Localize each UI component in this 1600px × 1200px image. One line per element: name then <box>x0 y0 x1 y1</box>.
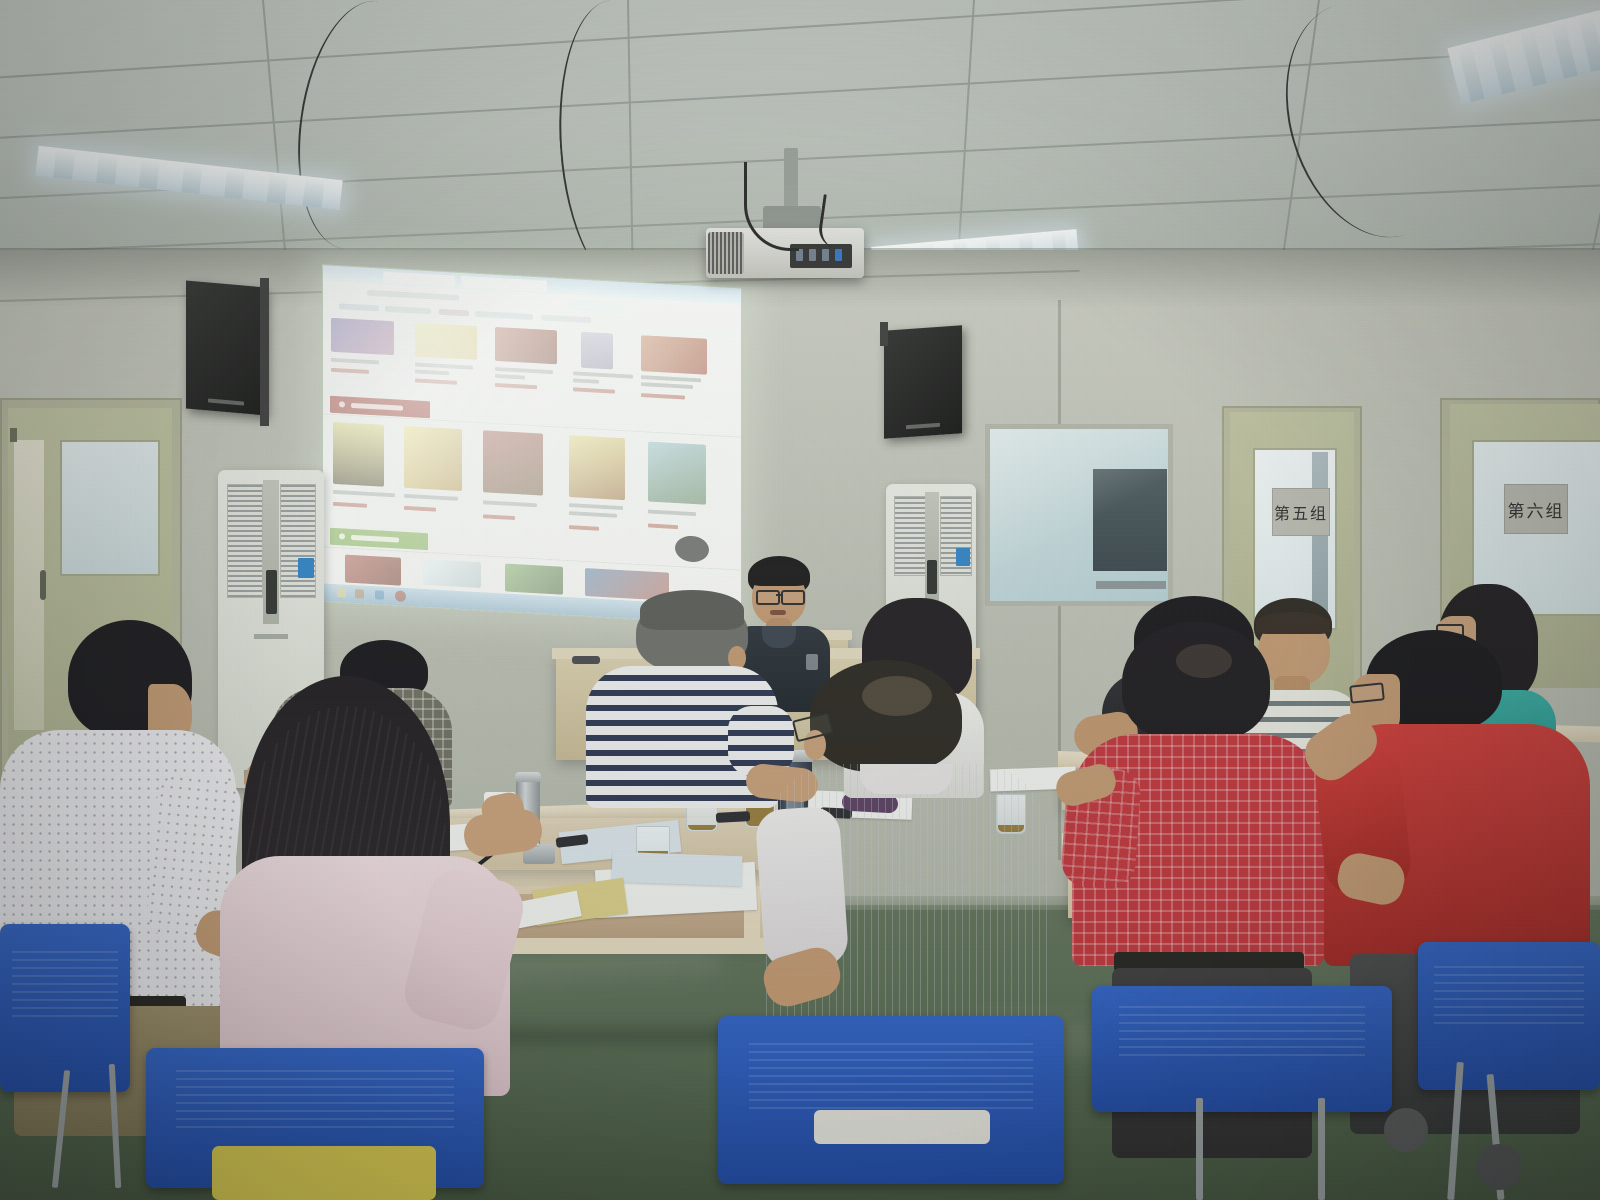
attendee-hair <box>1122 622 1270 742</box>
ac-brand-label <box>254 634 288 639</box>
chair-wheel <box>1476 1144 1522 1190</box>
blue-chair-center[interactable] <box>718 1016 1064 1184</box>
projection-screen <box>322 264 742 625</box>
thermos-cap <box>515 772 541 782</box>
presenter-glasses-bridge <box>776 594 782 596</box>
speaker-badge <box>208 398 243 405</box>
presenter-hair-front <box>750 564 808 586</box>
ac-energy-label <box>956 548 970 566</box>
presenter-glasses <box>781 590 805 605</box>
chair-leg <box>1196 1098 1203 1200</box>
attendee-hair-top <box>640 590 744 630</box>
ac-vent-left <box>227 484 263 598</box>
blue-chair-right-b[interactable] <box>1418 942 1600 1090</box>
door-sign-group-five: 第五组 <box>1272 488 1330 536</box>
attendee-glasses <box>1349 682 1385 703</box>
paper-document <box>612 852 743 887</box>
window-glare <box>990 429 1168 601</box>
door-sign-group-six: 第六组 <box>1504 484 1568 534</box>
screen-glare <box>323 265 741 624</box>
ac-control-panel[interactable] <box>266 570 277 614</box>
attendee-hair-thin-spot <box>1176 644 1232 678</box>
attendee-collar <box>860 764 952 794</box>
attendee-hairline <box>1256 612 1330 634</box>
ac-vent-left <box>894 496 926 576</box>
chair-wheel <box>1384 1108 1428 1152</box>
ac-energy-label <box>298 558 314 578</box>
presenter-mouth <box>770 610 786 615</box>
speaker-badge <box>906 423 940 429</box>
attendee-arm <box>755 805 850 970</box>
blue-chair-right-a[interactable] <box>1092 986 1392 1112</box>
mobile-phone[interactable] <box>716 811 750 823</box>
chair-seat <box>212 1146 436 1200</box>
wall-speaker-left <box>186 281 266 416</box>
presenter-shirt-detail <box>806 654 818 670</box>
chair-leg <box>1318 1098 1325 1200</box>
attendee-hair-thin <box>862 676 932 716</box>
chair-white-cushion <box>814 1110 990 1144</box>
presenter-collar <box>762 626 796 648</box>
training-room-photo: 第五组 第六组 <box>0 0 1600 1200</box>
door-window-reflection <box>1312 452 1328 622</box>
interior-observation-window <box>985 424 1173 606</box>
speaker-bracket-right <box>880 322 888 346</box>
door-hinge <box>10 428 17 442</box>
presenter-glasses <box>756 590 780 605</box>
ac-vent-right <box>280 484 316 598</box>
projector-vent <box>708 232 744 274</box>
desk-phone-on-table <box>572 656 600 664</box>
speaker-bracket-left <box>260 278 269 426</box>
ac-control-panel[interactable] <box>927 560 937 594</box>
door-handle-left[interactable] <box>40 570 46 600</box>
wall-speaker-right <box>884 325 962 438</box>
door-window-left <box>60 440 160 576</box>
